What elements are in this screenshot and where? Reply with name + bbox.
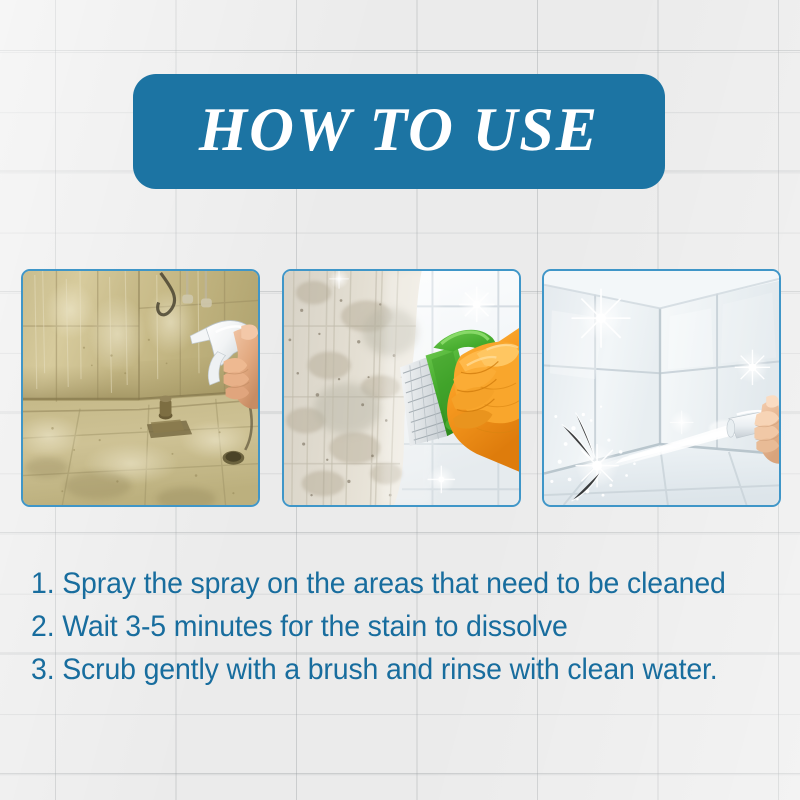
title-banner: HOW TO USE	[133, 74, 665, 189]
photo-panel-scrub-image	[284, 271, 519, 505]
photo-panel-before	[21, 269, 260, 507]
sparkle-icon	[427, 466, 455, 494]
photo-panel-after-image	[544, 271, 779, 505]
photo-panel-after	[542, 269, 781, 507]
photo-panels-row	[21, 269, 781, 507]
instruction-step-1: 1. Spray the spray on the areas that nee…	[31, 562, 745, 605]
dirty-bathroom-tiles-illustration	[23, 271, 258, 505]
clean-tiles-water-jet-illustration	[544, 271, 779, 505]
how-to-use-infographic: HOW TO USE	[0, 0, 800, 800]
photo-panel-before-image	[23, 271, 258, 505]
sparkle-icon	[670, 411, 694, 435]
instruction-steps-list: 1. Spray the spray on the areas that nee…	[31, 562, 771, 691]
sparkle-icon	[459, 287, 494, 322]
photo-panel-scrub	[282, 269, 521, 507]
scrubbing-brush-illustration	[284, 271, 519, 505]
page-title: HOW TO USE	[199, 99, 599, 165]
instruction-step-2: 2. Wait 3-5 minutes for the stain to dis…	[31, 605, 745, 648]
instruction-step-3: 3. Scrub gently with a brush and rinse w…	[31, 648, 745, 691]
